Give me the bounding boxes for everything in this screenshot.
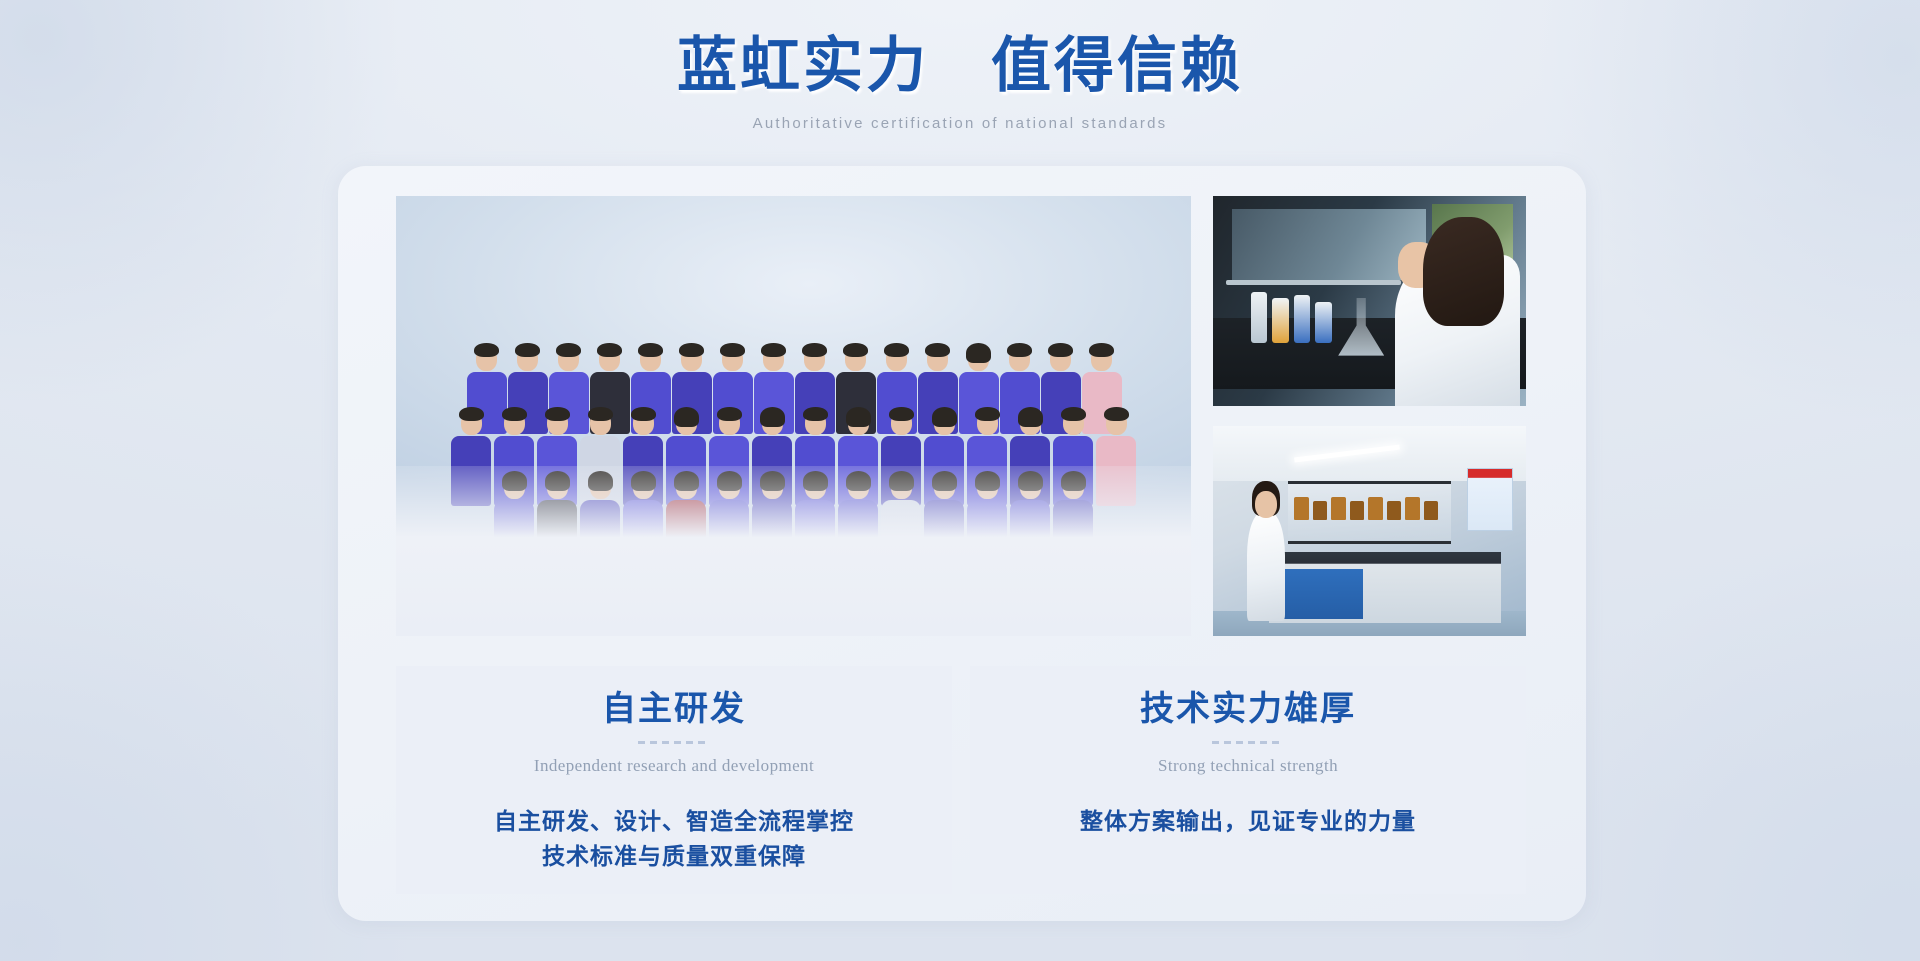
photo-grid — [396, 196, 1526, 636]
feature-card-description: 自主研发、设计、智造全流程掌控 技术标准与质量双重保障 — [396, 804, 952, 875]
feature-card-description-line-1: 整体方案输出，见证专业的力量 — [970, 804, 1526, 840]
side-photo-column — [1213, 196, 1526, 636]
page-title-part-2: 值得信赖 — [991, 33, 1243, 99]
content-panel: 自主研发 Independent research and developmen… — [338, 166, 1586, 921]
page-header: 蓝虹实力 值得信赖 Authoritative certification of… — [0, 32, 1920, 132]
dashed-divider-icon — [638, 741, 710, 744]
lab-coat — [1247, 512, 1285, 621]
page-subtitle: Authoritative certification of national … — [0, 115, 1920, 132]
lab-cabinet — [1282, 569, 1363, 619]
feature-card-subtitle-en: Independent research and development — [396, 756, 952, 776]
feature-cards: 自主研发 Independent research and developmen… — [396, 666, 1526, 894]
photo-floor — [396, 466, 1191, 636]
reagent-bottles-icon — [1294, 497, 1438, 520]
technician-face — [1255, 491, 1277, 518]
feature-card-description: 整体方案输出，见证专业的力量 — [970, 804, 1526, 840]
pipette-rack-icon — [1251, 288, 1332, 343]
lab-window — [1232, 209, 1426, 280]
dashed-divider-icon — [1212, 741, 1284, 744]
feature-card-description-line-2: 技术标准与质量双重保障 — [396, 839, 952, 875]
feature-card-description-line-1: 自主研发、设计、智造全流程掌控 — [396, 804, 952, 840]
page-title-part-1: 蓝虹实力 — [677, 33, 929, 99]
page-title: 蓝虹实力 值得信赖 — [0, 32, 1920, 101]
lab-shelf — [1226, 280, 1401, 285]
feature-card-subtitle-en: Strong technical strength — [970, 756, 1526, 776]
feature-card-title: 技术实力雄厚 — [970, 690, 1526, 731]
feature-card-independent-rd: 自主研发 Independent research and developmen… — [396, 666, 952, 894]
safety-poster — [1467, 468, 1514, 531]
page-root: 蓝虹实力 值得信赖 Authoritative certification of… — [0, 0, 1920, 961]
technician-hair — [1423, 217, 1504, 326]
lab-technician-pipette-photo — [1213, 196, 1526, 406]
team-group-photo — [396, 196, 1191, 636]
feature-card-title: 自主研发 — [396, 690, 952, 731]
lab-room-overview-photo — [1213, 426, 1526, 636]
feature-card-technical-strength: 技术实力雄厚 Strong technical strength 整体方案输出，… — [970, 666, 1526, 894]
